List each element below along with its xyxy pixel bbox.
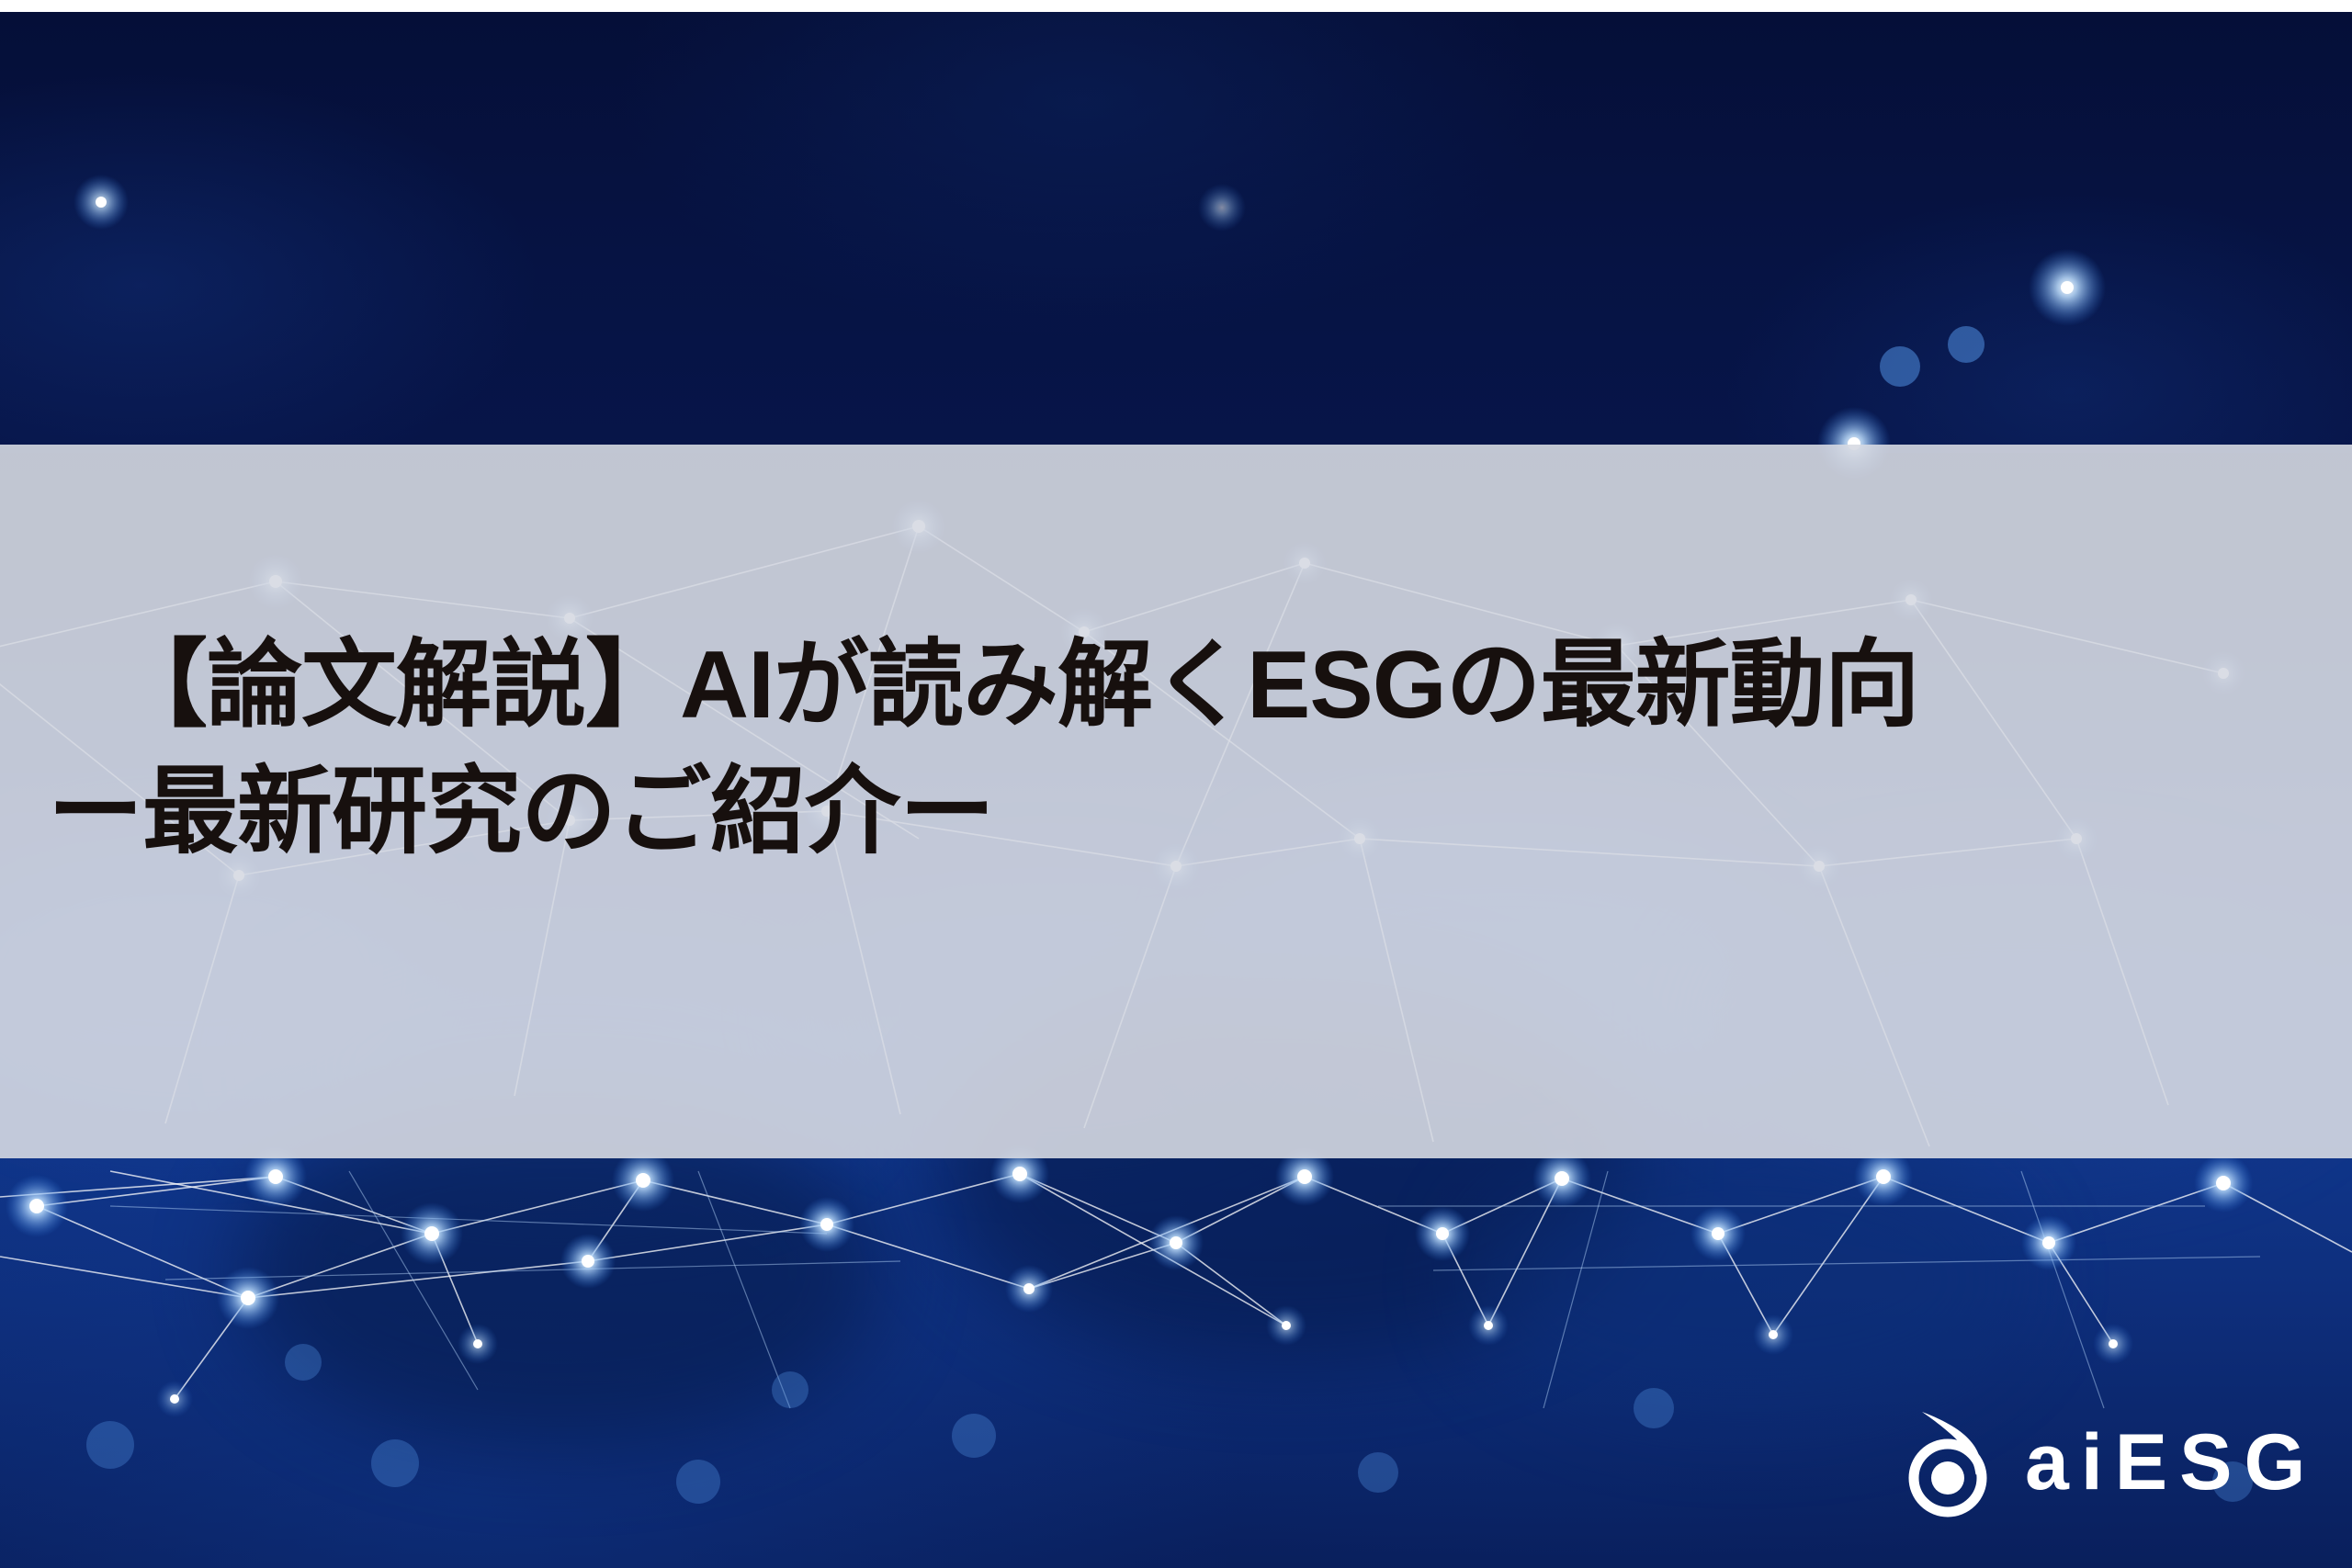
presentation-slide: 【論文解説】AIが読み解くESGの最新動向 ー最新研究のご紹介ー aiESG	[0, 0, 2352, 1568]
title-line-1: 【論文解説】AIが読み解くESGの最新動向	[0, 634, 2352, 737]
blur-shape-h	[1470, 1142, 2021, 1417]
aiesg-spiral-ring-icon	[1904, 1406, 2003, 1518]
title-line-2: ー最新研究のご紹介ー	[0, 761, 2352, 863]
aiesg-logo: aiESG	[1904, 1406, 2317, 1518]
page-title: 【論文解説】AIが読み解くESGの最新動向 ー最新研究のご紹介ー	[0, 634, 2352, 863]
aiesg-logo-text: aiESG	[2025, 1423, 2317, 1502]
dark-navy-gradient-region	[0, 12, 2352, 453]
white-top-strip	[0, 0, 2352, 12]
